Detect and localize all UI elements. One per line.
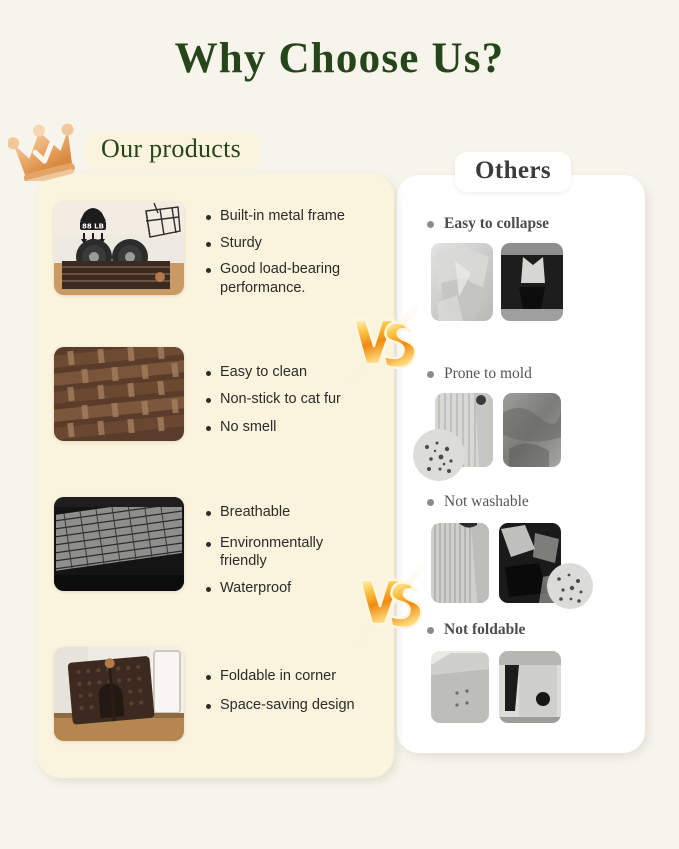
product-bullets: Easy to clean Non-stick to cat fur No sm… (206, 347, 341, 445)
product-row-breathable: Breathable Environmentally friendly Wate… (37, 497, 394, 605)
bullet-dot-icon (427, 221, 434, 228)
our-products-tab-label: Our products (86, 131, 258, 170)
bullet-text: Sturdy (220, 234, 262, 253)
photo-mold-speckle-circle (413, 429, 465, 481)
bullet-dot-icon (427, 499, 434, 506)
bullet-item: Space-saving design (206, 696, 355, 715)
photo-torn-dark-box (501, 243, 563, 321)
svg-text:88 LB: 88 LB (82, 223, 104, 231)
bullet-dot-icon (206, 215, 211, 220)
photo-collapsed-fabric-box (431, 243, 493, 321)
product-bullets: Breathable Environmentally friendly Wate… (206, 497, 345, 605)
others-row-label: Easy to collapse (444, 215, 549, 233)
our-products-rows: 88 LB (37, 173, 394, 778)
bullet-item: Sturdy (206, 234, 394, 253)
others-row-images (397, 393, 645, 477)
product-row-metal-frame: 88 LB (37, 201, 394, 305)
bullet-dot-icon (206, 542, 211, 547)
bullet-text: Easy to clean (220, 363, 307, 382)
crown-icon (8, 117, 80, 181)
photo-rigid-metal-box (499, 651, 561, 723)
bullet-dot-icon (427, 371, 434, 378)
bullet-item: Breathable (206, 503, 345, 522)
product-row-foldable: Foldable in corner Space-saving design (37, 647, 394, 741)
bullet-item: Waterproof (206, 579, 345, 598)
bullet-text: Waterproof (220, 579, 291, 598)
bullet-dot-icon (206, 426, 211, 431)
bullet-item: Foldable in corner (206, 667, 355, 686)
bullet-dot-icon (206, 511, 211, 516)
bullet-text: No smell (220, 418, 276, 437)
others-row-label: Not foldable (444, 621, 525, 639)
others-list: Easy to collapse (397, 175, 645, 753)
bullet-text: Foldable in corner (220, 667, 336, 686)
bullet-text: Built-in metal frame (220, 207, 345, 226)
others-row-label: Not washable (444, 493, 529, 511)
others-row-not-foldable: Not foldable (397, 621, 645, 733)
others-row-easy-to-collapse: Easy to collapse (397, 215, 645, 327)
photo-rigid-grey-cube (431, 651, 489, 723)
bullet-dot-icon (206, 675, 211, 680)
others-row-images (397, 243, 645, 327)
bullet-text: Environmentally friendly (220, 534, 345, 571)
bullet-text: Non-stick to cat fur (220, 390, 341, 409)
others-row-not-washable: Not washable (397, 493, 645, 605)
bullet-dot-icon (206, 587, 211, 592)
others-row-label-wrap: Not foldable (397, 621, 645, 639)
vs-badge-bottom (352, 562, 426, 644)
others-row-label-wrap: Prone to mold (397, 365, 645, 383)
photo-folded-rattan-litter-box (54, 647, 184, 741)
vs-badge-top (346, 302, 420, 384)
photo-metal-mesh-panel (54, 497, 184, 591)
bullet-item: No smell (206, 418, 341, 437)
bullet-dot-icon (206, 242, 211, 247)
bullet-item: Built-in metal frame (206, 207, 394, 226)
bullet-item: Good load-bearing performance. (206, 260, 394, 297)
bullet-item: Non-stick to cat fur (206, 390, 341, 409)
photo-mold-speckle-circle (547, 563, 593, 609)
bullet-text: Space-saving design (220, 696, 355, 715)
bullet-text: Breathable (220, 503, 290, 522)
bullet-dot-icon (206, 704, 211, 709)
bullet-dot-icon (206, 398, 211, 403)
others-row-images (397, 649, 645, 733)
others-row-prone-to-mold: Prone to mold (397, 365, 645, 477)
photo-stained-grey-panel (503, 393, 561, 467)
others-row-images (397, 521, 645, 605)
others-row-label: Prone to mold (444, 365, 532, 383)
bullet-item: Easy to clean (206, 363, 341, 382)
product-bullets: Foldable in corner Space-saving design (206, 647, 355, 741)
others-tab-label: Others (455, 152, 571, 192)
why-choose-us-infographic: Why Choose Us? Easy to collapse (0, 0, 679, 849)
bullet-dot-icon (206, 371, 211, 376)
page-title: Why Choose Us? (0, 34, 679, 83)
bullet-text: Good load-bearing performance. (220, 260, 394, 297)
product-bullets: Built-in metal frame Sturdy Good load-be… (206, 201, 394, 305)
bullet-dot-icon (427, 627, 434, 634)
photo-dirty-ribbed-fabric (431, 523, 489, 603)
photo-brown-woven-rattan-texture (54, 347, 184, 441)
bullet-item: Environmentally friendly (206, 534, 345, 571)
others-row-label-wrap: Not washable (397, 493, 645, 511)
others-row-label-wrap: Easy to collapse (397, 215, 645, 233)
product-row-easy-to-clean: Easy to clean Non-stick to cat fur No sm… (37, 347, 394, 445)
photo-dumbbells-in-rattan-basket: 88 LB (54, 201, 184, 295)
bullet-dot-icon (206, 268, 211, 273)
